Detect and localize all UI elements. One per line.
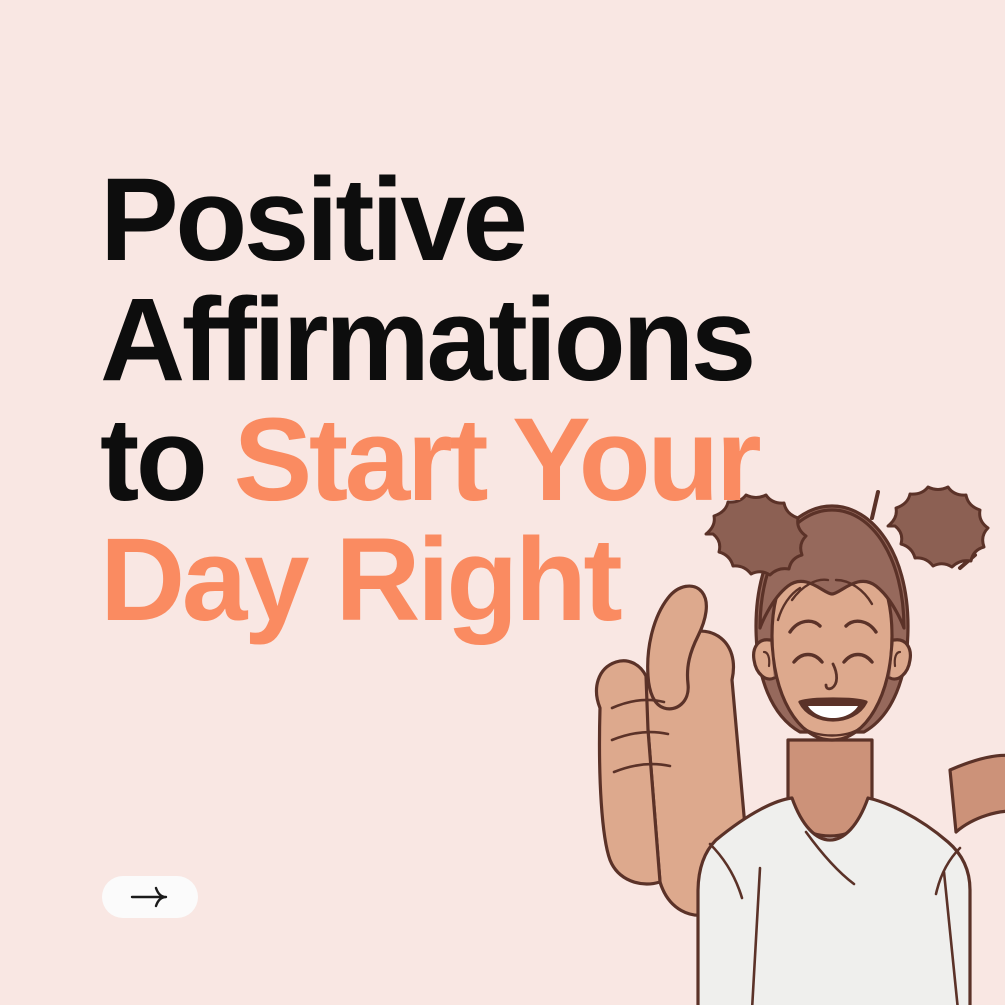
headline-line-2: Affirmations [100, 280, 900, 400]
headline-line-3: to Start Your [100, 400, 900, 520]
headline-line-3-accent: Start Your [234, 394, 759, 526]
arrow-right-icon [127, 885, 173, 909]
next-slide-button[interactable] [102, 876, 198, 918]
page-title: Positive Affirmations to Start Your Day … [100, 160, 900, 640]
headline-line-1: Positive [100, 160, 900, 280]
headline-line-4-accent: Day Right [100, 520, 900, 640]
headline-line-3-dark: to [100, 394, 234, 526]
social-post-canvas: Positive Affirmations to Start Your Day … [0, 0, 1005, 1005]
